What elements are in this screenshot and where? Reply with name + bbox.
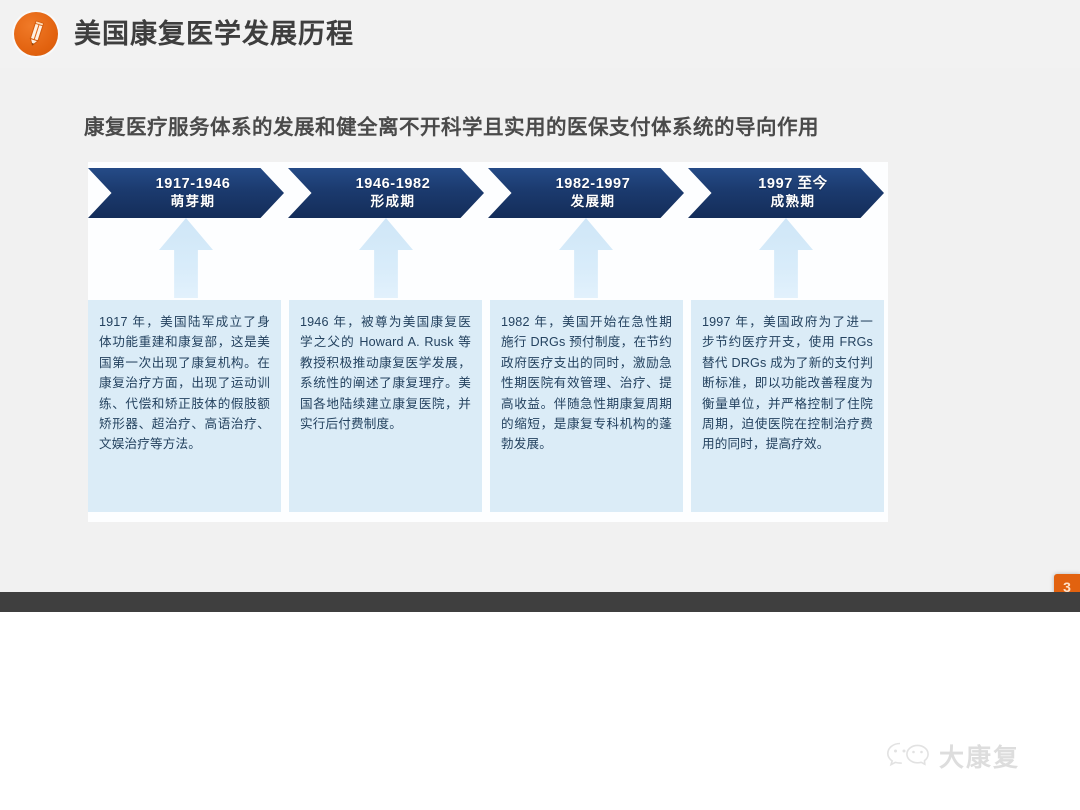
arrow-cell-3 <box>488 218 684 300</box>
divider-bar <box>0 592 1080 612</box>
chevron-stage-4: 1997 至今 成熟期 <box>688 168 884 218</box>
up-arrow-icon <box>759 218 813 298</box>
up-arrow-icon <box>359 218 413 298</box>
chevron-years: 1946-1982 <box>356 175 431 193</box>
page-number-badge: 3 <box>1054 574 1080 592</box>
panel-row: 1917 年，美国陆军成立了身体功能重建和康复部，这是美国第一次出现了康复机构。… <box>88 300 888 512</box>
pencil-icon <box>23 20 49 48</box>
up-arrow-icon <box>159 218 213 298</box>
stage-panel-3: 1982 年，美国开始在急性期施行 DRGs 预付制度，在节约政府医疗支出的同时… <box>490 300 683 512</box>
arrow-cell-2 <box>288 218 484 300</box>
chevron-stage-2: 1946-1982 形成期 <box>288 168 484 218</box>
page-title: 美国康复医学发展历程 <box>74 21 354 48</box>
stage-panel-2: 1946 年，被尊为美国康复医学之父的 Howard A. Rusk 等教授积极… <box>289 300 482 512</box>
chevron-phase: 成熟期 <box>771 193 816 211</box>
stage-panel-text: 1946 年，被尊为美国康复医学之父的 Howard A. Rusk 等教授积极… <box>300 312 471 434</box>
arrow-cell-1 <box>88 218 284 300</box>
chevron-years: 1917-1946 <box>156 175 231 193</box>
stage-panel-text: 1917 年，美国陆军成立了身体功能重建和康复部，这是美国第一次出现了康复机构。… <box>99 312 270 455</box>
up-arrow-icon <box>559 218 613 298</box>
chevron-phase: 萌芽期 <box>171 193 216 211</box>
slide-header: 美国康复医学发展历程 <box>0 0 1080 68</box>
arrow-cell-4 <box>688 218 884 300</box>
chevron-stage-3: 1982-1997 发展期 <box>488 168 684 218</box>
watermark-text: 大康复 <box>939 738 1020 774</box>
chevron-years: 1997 至今 <box>758 175 828 193</box>
stage-panel-4: 1997 年，美国政府为了进一步节约医疗开支，使用 FRGs 替代 DRGs 成… <box>691 300 884 512</box>
stage-panel-text: 1997 年，美国政府为了进一步节约医疗开支，使用 FRGs 替代 DRGs 成… <box>702 312 873 455</box>
chevron-phase: 发展期 <box>571 193 616 211</box>
pencil-circle-icon <box>14 12 58 56</box>
stage-panel-1: 1917 年，美国陆军成立了身体功能重建和康复部，这是美国第一次出现了康复机构。… <box>88 300 281 512</box>
stage-panel-text: 1982 年，美国开始在急性期施行 DRGs 预付制度，在节约政府医疗支出的同时… <box>501 312 672 455</box>
slide-subtitle: 康复医疗服务体系的发展和健全离不开科学且实用的医保支付体系统的导向作用 <box>84 110 819 140</box>
chevron-row: 1917-1946 萌芽期 1946-1982 形成期 1982-1997 发展… <box>88 168 888 218</box>
timeline-diagram: 1917-1946 萌芽期 1946-1982 形成期 1982-1997 发展… <box>88 162 888 522</box>
wechat-icon <box>885 739 929 773</box>
lower-area: 大康复 <box>0 612 1080 810</box>
arrow-row <box>88 218 888 300</box>
slide: 美国康复医学发展历程 康复医疗服务体系的发展和健全离不开科学且实用的医保支付体系… <box>0 0 1080 592</box>
chevron-phase: 形成期 <box>371 193 416 211</box>
watermark: 大康复 <box>885 738 1020 774</box>
chevron-stage-1: 1917-1946 萌芽期 <box>88 168 284 218</box>
chevron-years: 1982-1997 <box>556 175 631 193</box>
